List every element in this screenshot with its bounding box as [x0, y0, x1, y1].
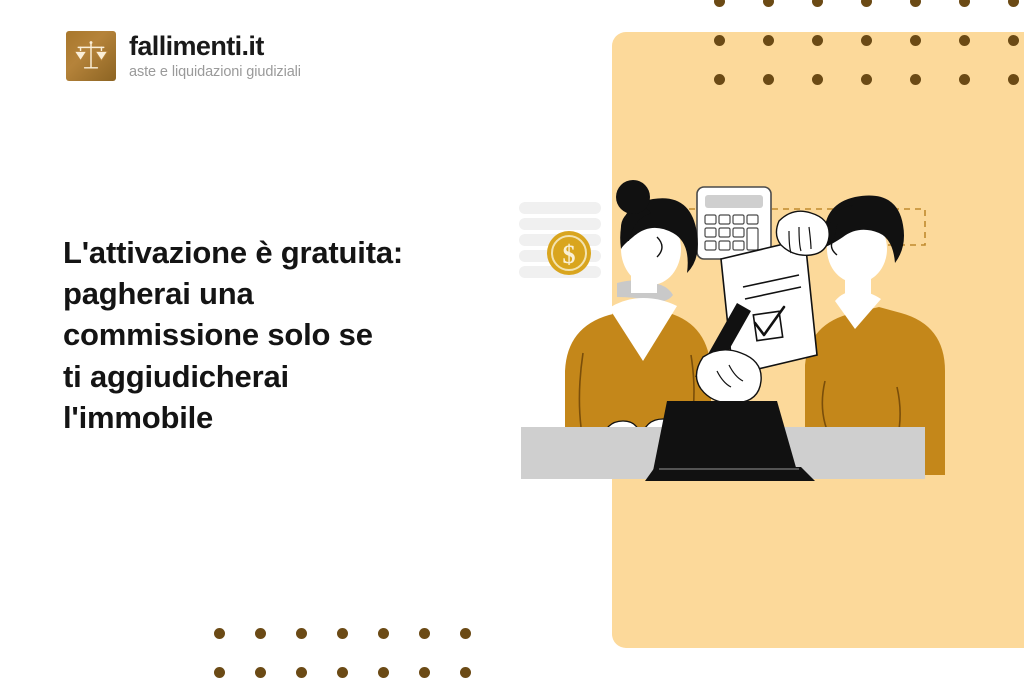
dot: [214, 667, 225, 678]
svg-text:$: $: [563, 240, 576, 269]
dot: [460, 667, 471, 678]
brand-title: fallimenti.it: [129, 33, 301, 60]
dot: [959, 0, 970, 7]
scales-of-justice-icon: [66, 31, 116, 81]
dot: [1008, 0, 1019, 7]
dot: [714, 35, 725, 46]
dot: [296, 628, 307, 639]
hero-banner: fallimenti.it aste e liquidazioni giudiz…: [0, 0, 1024, 682]
dot: [959, 35, 970, 46]
dot: [714, 74, 725, 85]
dot: [714, 0, 725, 7]
dot: [861, 74, 872, 85]
dot: [959, 74, 970, 85]
top-dot-grid-decoration: [714, 0, 1024, 113]
dot: [812, 0, 823, 7]
brand-subtitle: aste e liquidazioni giudiziali: [129, 65, 301, 80]
dot: [910, 35, 921, 46]
dot: [460, 628, 471, 639]
dot: [763, 35, 774, 46]
dollar-coin-icon: $: [547, 231, 591, 275]
dot: [910, 0, 921, 7]
calculator-icon: [697, 187, 771, 259]
dot: [419, 667, 430, 678]
dot: [1008, 74, 1019, 85]
dot: [910, 74, 921, 85]
bottom-dot-grid-decoration: [214, 628, 501, 682]
dot: [1008, 35, 1019, 46]
dot: [337, 628, 348, 639]
dot: [812, 74, 823, 85]
dot: [378, 628, 389, 639]
hero-headline: L'attivazione è gratuita: pagherai una c…: [63, 232, 483, 438]
hand-holding-document: [776, 211, 829, 255]
dot: [812, 35, 823, 46]
dot: [763, 0, 774, 7]
hero-illustration: $: [505, 175, 945, 485]
brand-logo[interactable]: fallimenti.it aste e liquidazioni giudiz…: [66, 31, 301, 81]
dot: [378, 667, 389, 678]
dot: [337, 667, 348, 678]
dot: [763, 74, 774, 85]
hand-holding-pen: [696, 350, 761, 403]
dot: [861, 0, 872, 7]
dot: [861, 35, 872, 46]
dot: [296, 667, 307, 678]
dot: [214, 628, 225, 639]
dot: [255, 667, 266, 678]
dot: [419, 628, 430, 639]
dot: [255, 628, 266, 639]
